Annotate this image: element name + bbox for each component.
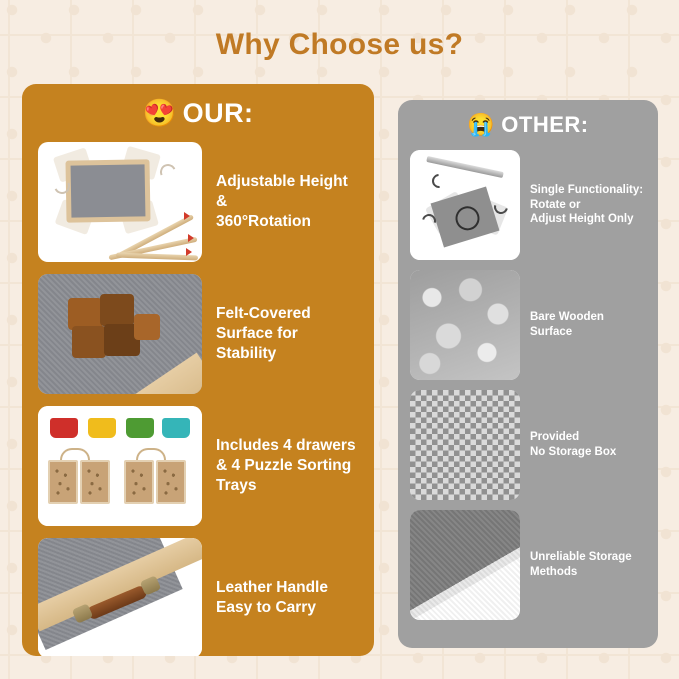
other-feature-label-3: Provided No Storage Box [530,430,616,460]
our-feature-row-3: Includes 4 drawers & 4 Puzzle Sorting Tr… [38,406,358,526]
leather-handle-photo [38,538,202,656]
colored-sorting-trays-and-drawers-photo [38,406,202,526]
our-feature-row-1: Adjustable Height & 360°Rotation [38,142,358,262]
our-feature-label-1: Adjustable Height & 360°Rotation [216,172,358,232]
single-function-board-grayscale-photo [410,150,520,260]
our-feature-label-3: Includes 4 drawers & 4 Puzzle Sorting Tr… [216,436,356,496]
other-feature-row-3: Provided No Storage Box [410,390,646,500]
our-panel: 😍 OUR: [22,84,374,656]
puzzle-pieces-on-felt-photo [38,274,202,394]
plain-board-edge-grayscale-photo [410,510,520,620]
our-panel-heading-label: OUR: [183,98,254,129]
our-feature-label-2: Felt-Covered Surface for Stability [216,304,358,364]
other-feature-row-1: Single Functionality: Rotate or Adjust H… [410,150,646,260]
our-feature-list: Adjustable Height & 360°Rotation Felt-Co… [22,142,374,656]
other-panel: 😭 OTHER: Single Functionality: Rota [398,100,658,648]
our-feature-row-2: Felt-Covered Surface for Stability [38,274,358,394]
other-feature-label-1: Single Functionality: Rotate or Adjust H… [530,183,643,228]
other-feature-list: Single Functionality: Rotate or Adjust H… [398,150,658,632]
our-feature-label-4: Leather Handle Easy to Carry [216,578,328,618]
other-feature-label-4: Unreliable Storage Methods [530,550,632,580]
page-title: Why Choose us? [0,28,679,62]
our-feature-row-4: Leather Handle Easy to Carry [38,538,358,656]
heart-eyes-emoji: 😍 [142,100,176,127]
other-panel-heading-label: OTHER: [501,112,588,138]
pile-of-puzzle-pieces-grayscale-photo [410,390,520,500]
crying-face-emoji: 😭 [467,114,495,136]
rotating-tilting-puzzle-board-photo [38,142,202,262]
our-panel-header: 😍 OUR: [22,84,374,142]
other-panel-header: 😭 OTHER: [398,100,658,150]
other-feature-row-4: Unreliable Storage Methods [410,510,646,620]
scattered-puzzle-pieces-grayscale-photo [410,270,520,380]
infographic-page: Why Choose us? 😍 OUR: [0,0,679,679]
other-feature-row-2: Bare Wooden Surface [410,270,646,380]
other-feature-label-2: Bare Wooden Surface [530,310,604,340]
